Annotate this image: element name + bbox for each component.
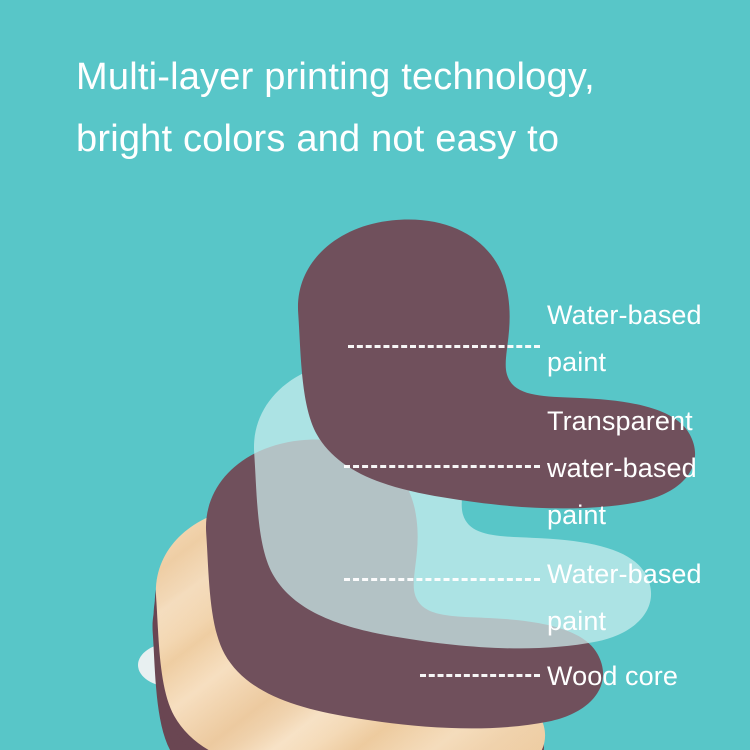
leader-line-water-based-paint-lower: [344, 578, 540, 581]
product-infographic-canvas: Multi-layer printing technology, bright …: [0, 0, 750, 750]
leader-line-wood-core: [420, 674, 540, 677]
leader-line-water-based-paint-top: [348, 345, 540, 348]
callout-label-water-based-paint-top: Water-based paint: [547, 292, 702, 386]
callout-label-transparent-water-based-paint: Transparent water-based paint: [547, 398, 697, 539]
callout-label-water-based-paint-lower: Water-based paint: [547, 551, 702, 645]
leader-line-transparent-water-based-paint: [344, 465, 540, 468]
callout-label-wood-core: Wood core: [547, 653, 678, 700]
